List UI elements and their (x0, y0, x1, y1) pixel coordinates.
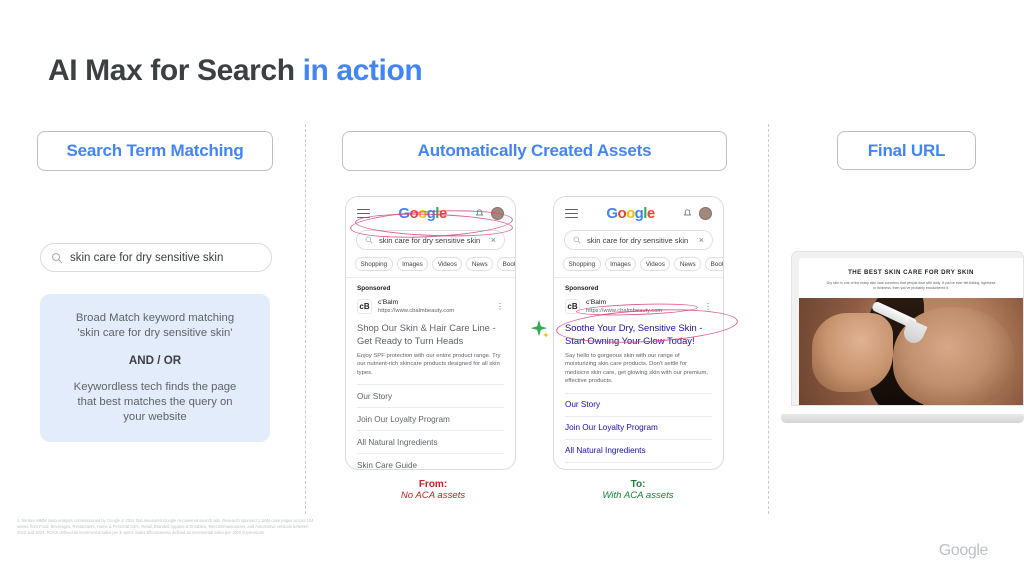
pill-search-term-matching[interactable]: Search Term Matching (37, 131, 273, 171)
pill-search-term-matching-label: Search Term Matching (66, 141, 243, 161)
sitelink-loyalty-program[interactable]: Join Our Loyalty Program (565, 416, 712, 439)
search-term-input[interactable]: skin care for dry sensitive skin (40, 243, 272, 272)
phone-to-ad-description: Say hello to gorgeous skin with our rang… (554, 347, 723, 393)
chip-news[interactable]: News (466, 257, 493, 271)
pill-automatically-created-assets[interactable]: Automatically Created Assets (342, 131, 727, 171)
google-logo: Google (606, 205, 654, 222)
caption-from: From: No ACA assets (343, 479, 523, 501)
caption-to: To: With ACA assets (548, 479, 728, 501)
column-divider-left (305, 124, 306, 514)
sitelink-skin-care-guide[interactable]: Skin Care Guide (357, 453, 504, 470)
sitelink-our-story[interactable]: Our Story (357, 384, 504, 407)
phone-from-filter-chips: Shopping Images Videos News Books (346, 250, 515, 277)
laptop-base (781, 414, 1024, 423)
matching-explanation-box: Broad Match keyword matching 'skin care … (40, 294, 270, 442)
matching-andor: AND / OR (129, 354, 181, 367)
more-options-icon[interactable]: ⋮ (704, 303, 712, 311)
advertiser-row: cB c'Balm https://www.cbalmbeauty.com ⋮ (357, 298, 504, 315)
laptop-lid: THE BEST SKIN CARE FOR DRY SKIN Dry skin… (791, 251, 1024, 406)
advertiser-meta: c'Balm https://www.cbalmbeauty.com (586, 298, 698, 315)
advertiser-logo: cB (565, 299, 580, 314)
phone-to-search-value: skin care for dry sensitive skin (587, 236, 693, 245)
chip-books[interactable]: Books (497, 257, 516, 271)
sponsored-label: Sponsored (565, 285, 712, 292)
chip-images[interactable]: Images (605, 257, 637, 271)
advertiser-meta: c'Balm https://www.cbalmbeauty.com (378, 298, 490, 315)
matching-line-4: that best matches the query on (77, 395, 232, 410)
phone-to-filter-chips: Shopping Images Videos News Books (554, 250, 723, 277)
matching-line-3: Keywordless tech finds the page (74, 380, 237, 395)
sitelink-our-story[interactable]: Our Story (565, 393, 712, 416)
chip-videos[interactable]: Videos (432, 257, 462, 271)
chip-images[interactable]: Images (397, 257, 429, 271)
phone-to-ad: Sponsored cB c'Balm https://www.cbalmbea… (554, 278, 723, 315)
caption-from-sub: No ACA assets (343, 490, 523, 501)
close-icon[interactable]: × (699, 236, 704, 245)
phone-from-ad: Sponsored cB c'Balm https://www.cbalmbea… (346, 278, 515, 315)
advertiser-url: https://www.cbalmbeauty.com (586, 307, 698, 315)
matching-line-1: Broad Match keyword matching (76, 311, 234, 326)
page-title-accent: in action (303, 54, 423, 87)
search-icon (573, 236, 581, 244)
sitelink-all-natural-ingredients[interactable]: All Natural Ingredients (357, 430, 504, 453)
matching-line-2: 'skin care for dry sensitive skin' (78, 326, 233, 341)
phone-to-search-input[interactable]: skin care for dry sensitive skin × (564, 230, 713, 250)
more-options-icon[interactable]: ⋮ (496, 303, 504, 311)
phone-from-search-input[interactable]: skin care for dry sensitive skin × (356, 230, 505, 250)
menu-icon[interactable] (357, 209, 370, 219)
chip-books[interactable]: Books (705, 257, 724, 271)
hero-hand (812, 313, 893, 392)
sponsored-label: Sponsored (357, 285, 504, 292)
close-icon[interactable]: × (491, 236, 496, 245)
phone-to-topbar: Google (554, 197, 723, 225)
column-divider-right (768, 124, 769, 514)
bell-icon[interactable] (683, 208, 692, 219)
pill-final-url-label: Final URL (868, 141, 946, 161)
phone-from-ad-headline[interactable]: Shop Our Skin & Hair Care Line - Get Rea… (346, 315, 515, 347)
landing-page-title: THE BEST SKIN CARE FOR DRY SKIN (799, 258, 1023, 276)
advertiser-row: cB c'Balm https://www.cbalmbeauty.com ⋮ (565, 298, 712, 315)
pill-automatically-created-assets-label: Automatically Created Assets (418, 141, 652, 161)
avatar[interactable] (491, 207, 504, 220)
pill-final-url[interactable]: Final URL (837, 131, 976, 170)
phone-from-search-value: skin care for dry sensitive skin (379, 236, 485, 245)
chip-shopping[interactable]: Shopping (563, 257, 601, 271)
phone-mockup-to: Google skin care for dry sensitive skin … (553, 196, 724, 470)
avatar[interactable] (699, 207, 712, 220)
advertiser-name: c'Balm (378, 298, 490, 307)
sitelink-skin-care-guide[interactable]: Skin Care Guide (565, 462, 712, 470)
sitelink-loyalty-program[interactable]: Join Our Loyalty Program (357, 407, 504, 430)
search-icon (51, 252, 63, 264)
search-term-value: skin care for dry sensitive skin (70, 252, 223, 264)
chip-news[interactable]: News (674, 257, 701, 271)
caption-from-label: From: (343, 479, 523, 490)
google-brand-logo: Google (939, 542, 988, 560)
caption-to-label: To: (548, 479, 728, 490)
matching-line-5: your website (123, 410, 186, 425)
google-logo: Google (398, 205, 446, 222)
advertiser-url: https://www.cbalmbeauty.com (378, 307, 490, 315)
advertiser-logo: cB (357, 299, 372, 314)
phone-from-ad-description: Enjoy SPF protection with our entire pro… (346, 347, 515, 384)
page-title: AI Max for Search in action (48, 54, 422, 88)
landing-page-hero-image (799, 298, 1023, 405)
phone-to-top-icons (683, 207, 712, 220)
landing-page-screen: THE BEST SKIN CARE FOR DRY SKIN Dry skin… (799, 258, 1023, 405)
slide-root: AI Max for Search in action Search Term … (0, 0, 1024, 576)
bell-icon[interactable] (475, 208, 484, 219)
phone-from-top-icons (475, 207, 504, 220)
phone-to-ad-headline[interactable]: Soothe Your Dry, Sensitive Skin - Start … (554, 315, 723, 347)
ai-sparkle-icon (528, 318, 550, 340)
phone-mockup-from: Google skin care for dry sensitive skin … (345, 196, 516, 470)
phone-from-topbar: Google (346, 197, 515, 225)
sitelink-all-natural-ingredients[interactable]: All Natural Ingredients (565, 439, 712, 462)
search-icon (365, 236, 373, 244)
landing-page-subtitle: Dry skin is one of the many skin care co… (799, 276, 1023, 291)
phone-to-sitelinks: Our Story Join Our Loyalty Program All N… (554, 393, 723, 470)
caption-to-sub: With ACA assets (548, 490, 728, 501)
advertiser-name: c'Balm (586, 298, 698, 307)
menu-icon[interactable] (565, 209, 578, 219)
laptop-mockup: THE BEST SKIN CARE FOR DRY SKIN Dry skin… (781, 251, 1024, 423)
chip-videos[interactable]: Videos (640, 257, 670, 271)
phone-from-sitelinks: Our Story Join Our Loyalty Program All N… (346, 384, 515, 470)
footnote: 1. Nielsen MMM meta-analysis commissione… (17, 518, 317, 536)
chip-shopping[interactable]: Shopping (355, 257, 393, 271)
page-title-main: AI Max for Search (48, 54, 303, 87)
